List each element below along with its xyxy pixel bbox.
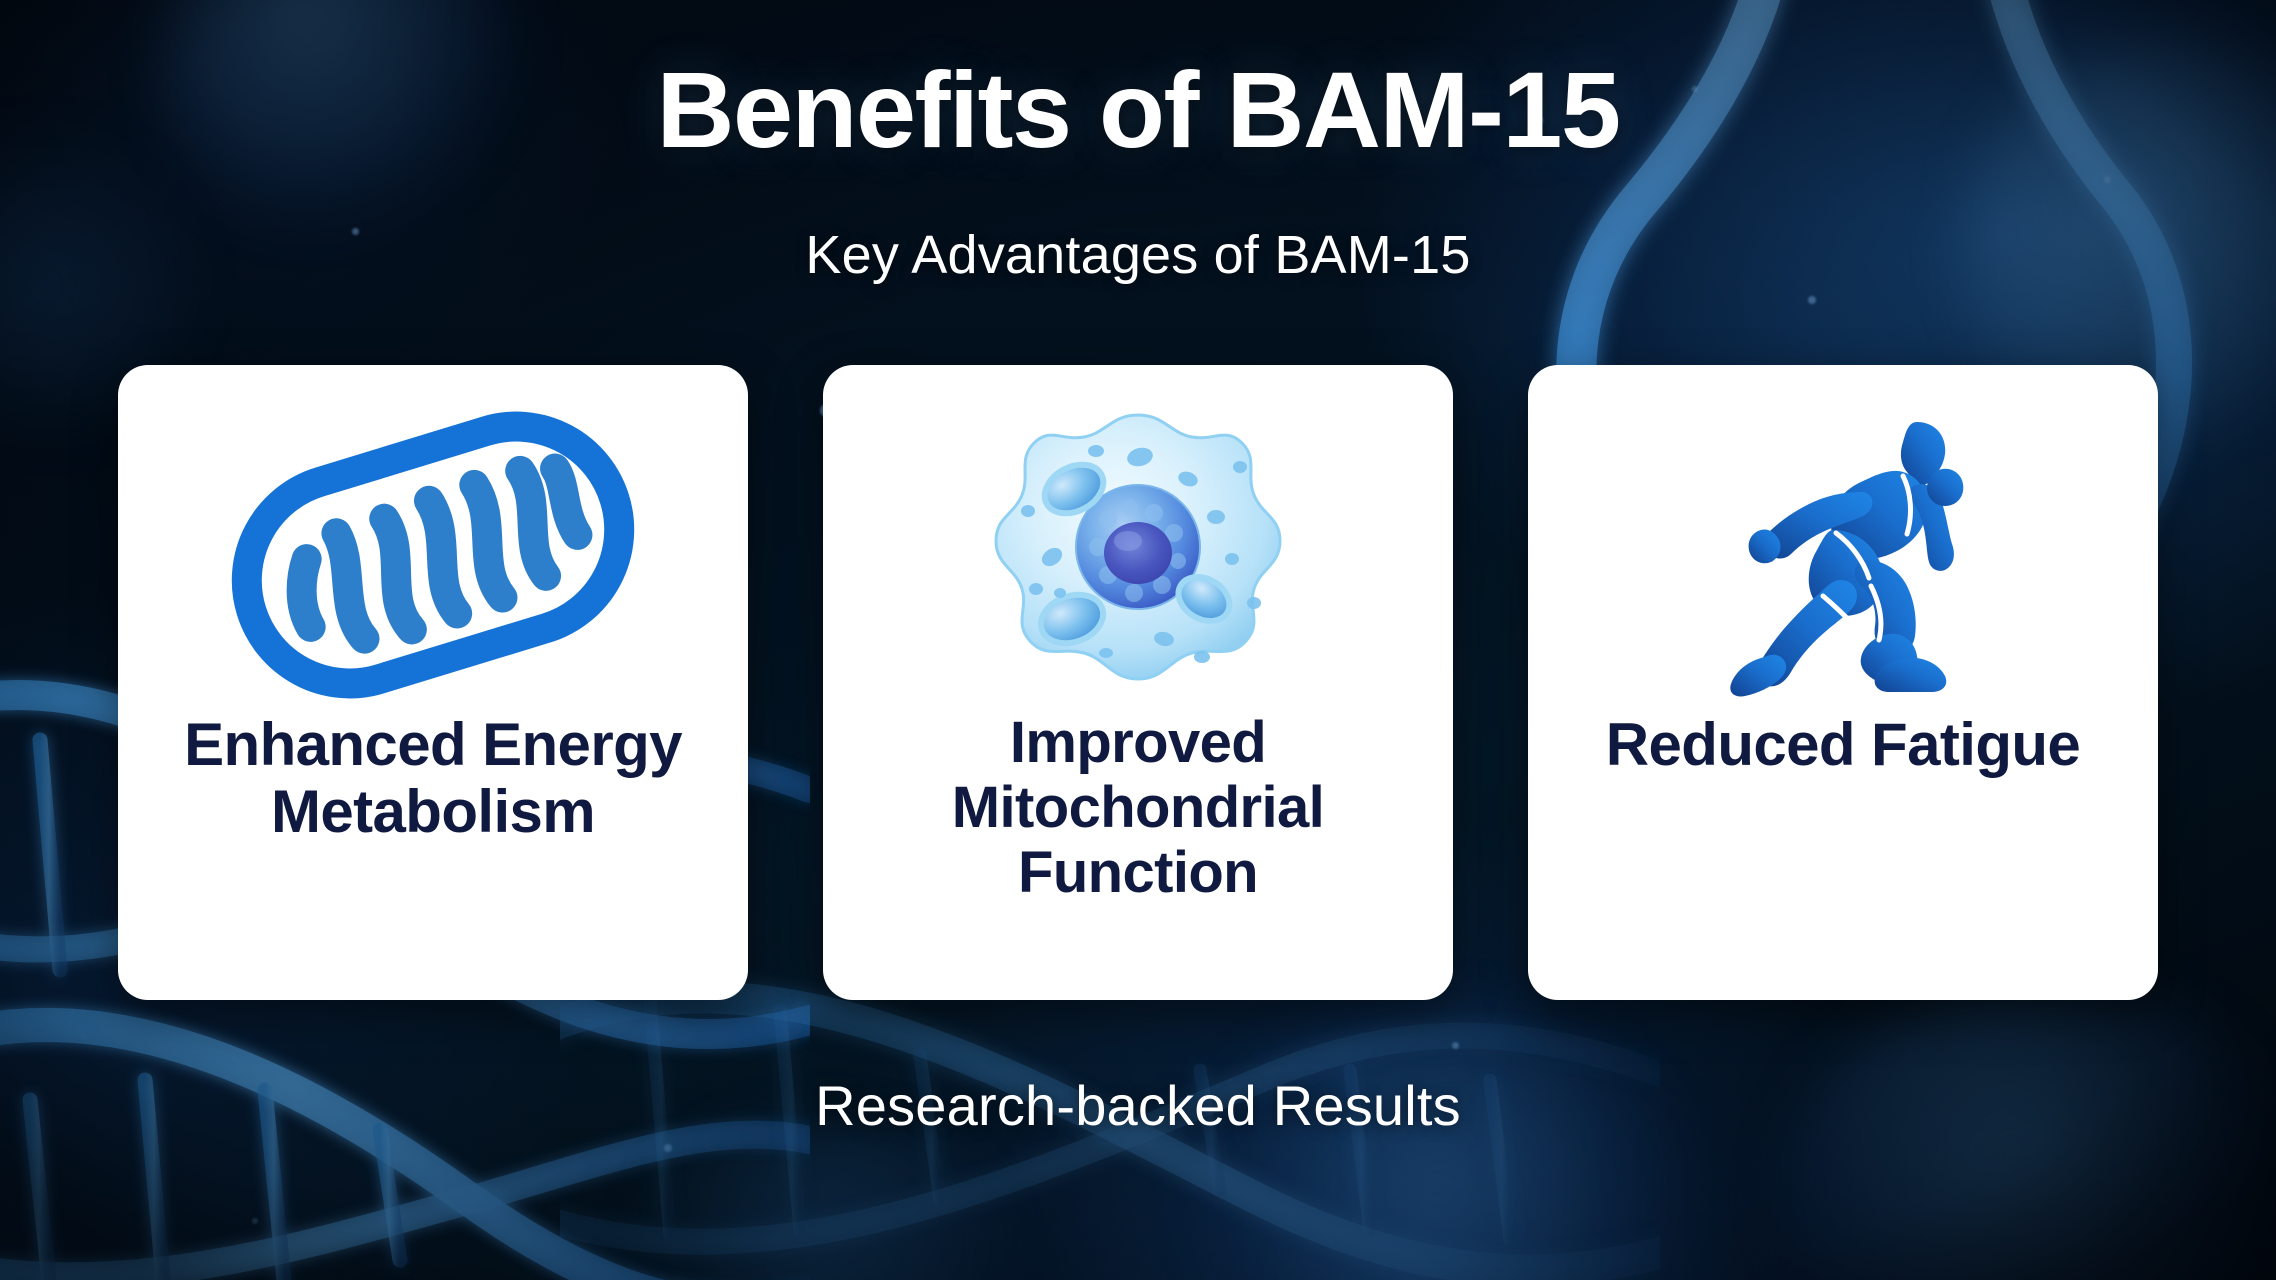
- benefit-card-list: Enhanced Energy Metabolism: [118, 365, 2158, 1000]
- cell-icon: [988, 405, 1288, 705]
- benefit-card-improved-mitochondrial-function[interactable]: Improved Mitochondrial Function: [823, 365, 1453, 1000]
- slide-content: Benefits of BAM-15 Key Advantages of BAM…: [0, 0, 2276, 1280]
- mitochondria-icon: [223, 405, 643, 705]
- page-subtitle: Key Advantages of BAM-15: [0, 228, 2276, 282]
- footer-caption: Research-backed Results: [0, 1078, 2276, 1134]
- page-title: Benefits of BAM-15: [0, 56, 2276, 164]
- running-man-icon: [1703, 405, 1983, 705]
- benefit-card-label: Reduced Fatigue: [1606, 711, 2080, 778]
- infographic-slide: Benefits of BAM-15 Key Advantages of BAM…: [0, 0, 2276, 1280]
- benefit-card-label: Enhanced Energy Metabolism: [146, 711, 720, 845]
- benefit-card-enhanced-energy-metabolism[interactable]: Enhanced Energy Metabolism: [118, 365, 748, 1000]
- benefit-card-label: Improved Mitochondrial Function: [851, 711, 1425, 906]
- benefit-card-reduced-fatigue[interactable]: Reduced Fatigue: [1528, 365, 2158, 1000]
